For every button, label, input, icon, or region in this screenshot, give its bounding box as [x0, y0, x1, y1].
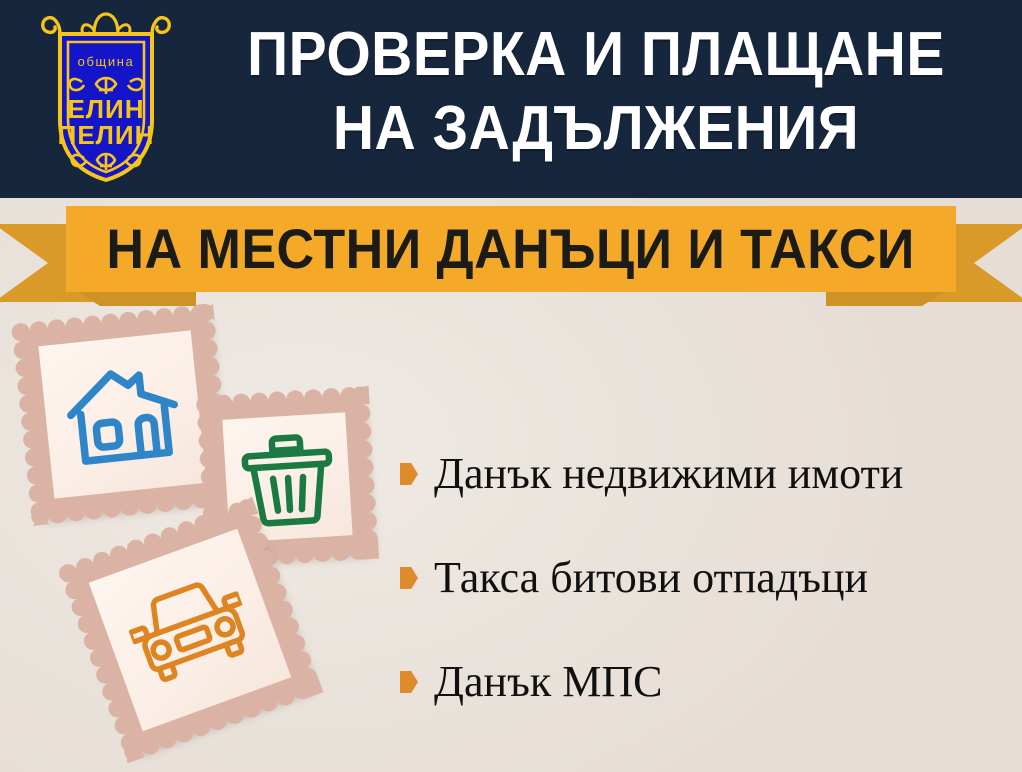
page-title: ПРОВЕРКА И ПЛАЩАНЕ НА ЗАДЪЛЖЕНИЯ	[186, 18, 1006, 166]
subtitle-ribbon: НА МЕСТНИ ДАНЪЦИ И ТАКСИ	[0, 198, 1022, 308]
logo-line-small: община	[78, 54, 135, 69]
list-item[interactable]: Данък недвижими имоти	[400, 422, 1010, 526]
house-icon	[59, 357, 185, 473]
stamp-collage	[0, 300, 420, 772]
arrow-bullet-icon	[400, 671, 418, 693]
car-front-icon	[120, 567, 260, 693]
logo-line-two: ПЕЛИН	[58, 120, 155, 150]
municipality-logo: община ЕЛИН ПЕЛИН	[38, 8, 174, 188]
stamp-card-house	[21, 313, 224, 516]
list-item-label: Такса битови отпадъци	[434, 554, 868, 602]
tax-type-list: Данък недвижими имоти Такса битови отпад…	[400, 422, 1010, 734]
poster-canvas: община ЕЛИН ПЕЛИН	[0, 0, 1022, 772]
list-item-label: Данък МПС	[434, 658, 662, 706]
list-item[interactable]: Данък МПС	[400, 630, 1010, 734]
arrow-bullet-icon	[400, 463, 418, 485]
ribbon-plate: НА МЕСТНИ ДАНЪЦИ И ТАКСИ	[66, 206, 956, 292]
stamp-paper-house	[38, 330, 206, 498]
list-item-label: Данък недвижими имоти	[434, 450, 903, 498]
stamp-scallop-right	[351, 386, 380, 560]
title-line-1: ПРОВЕРКА И ПЛАЩАНЕ	[219, 18, 973, 92]
header-bar: община ЕЛИН ПЕЛИН	[0, 0, 1022, 198]
ribbon-label: НА МЕСТНИ ДАНЪЦИ И ТАКСИ	[107, 221, 915, 277]
list-item[interactable]: Такса битови отпадъци	[400, 526, 1010, 630]
arrow-bullet-icon	[400, 567, 418, 589]
title-line-2: НА ЗАДЪЛЖЕНИЯ	[219, 92, 973, 166]
